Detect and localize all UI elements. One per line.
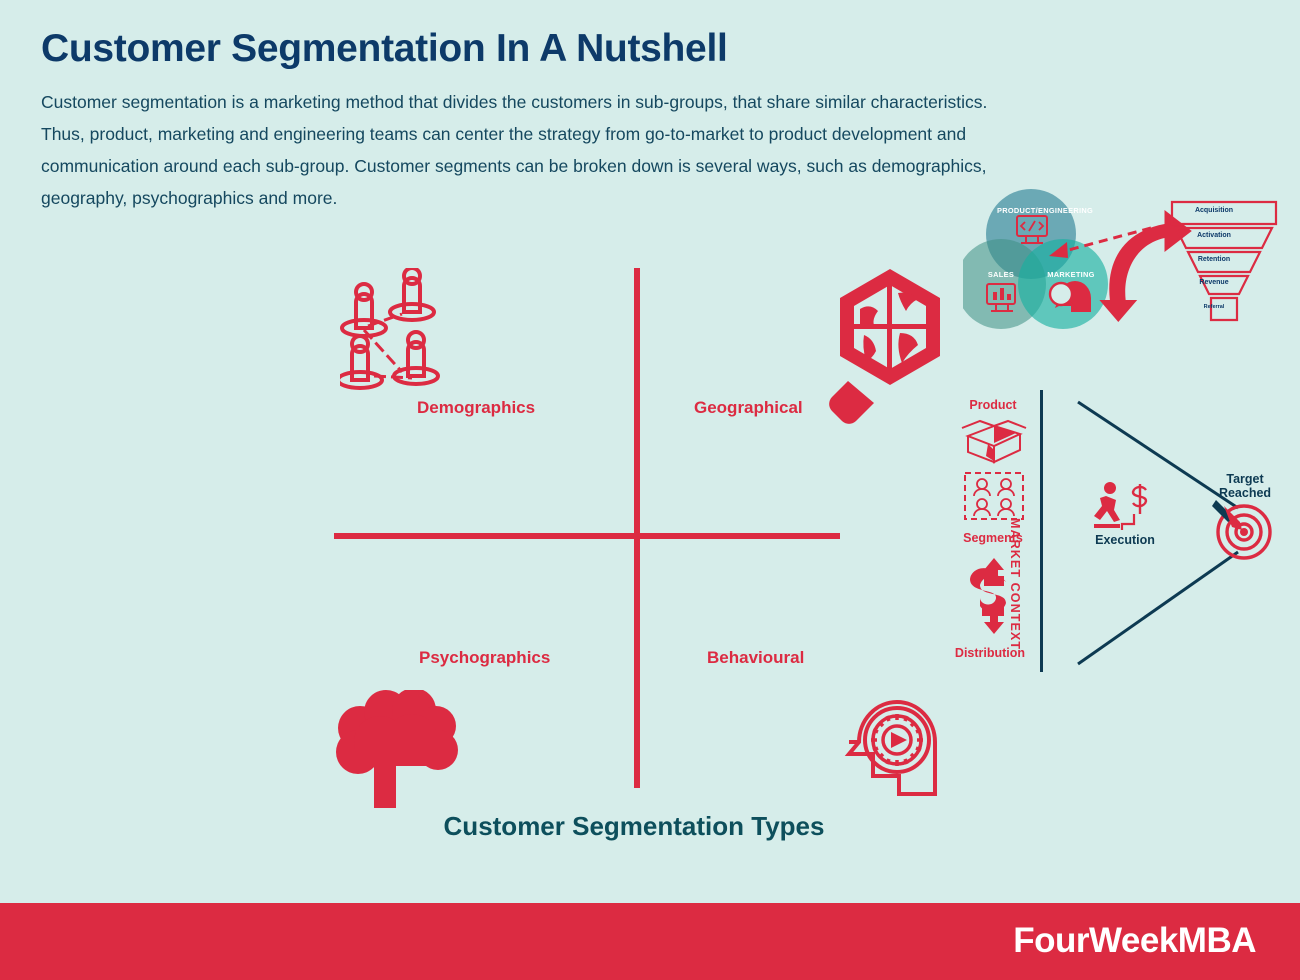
mc-label-execution: Execution [1080,533,1170,547]
quadrant-horizontal-divider [334,533,840,539]
quadrant-vertical-divider [634,268,640,788]
mc-label-segments: Segments [948,531,1038,545]
mc-label-distribution: Distribution [940,646,1040,660]
mc-label-target-reached-line2: Reached [1202,486,1288,500]
dollar-arrows-icon [966,558,1022,634]
running-person-money-icon [1092,480,1154,538]
aarrr-funnel: Acquisition Activation Retention Revenue… [1146,186,1282,326]
funnel-label-referral: Referral [1146,304,1282,310]
quadrant-label-psychographics: Psychographics [419,648,550,668]
page-description: Customer segmentation is a marketing met… [41,86,989,214]
market-context-diagram: MARKET CONTEXT Product Segments [940,388,1280,678]
people-grid-icon [962,470,1026,522]
globe-magnifier-icon [808,263,948,441]
dashed-arrow-icon [1035,222,1155,262]
bullseye-arrow-icon [1208,496,1276,564]
brand-logo: FourWeekMBA [1013,921,1256,961]
mc-label-product: Product [953,398,1033,412]
funnel-label-retention: Retention [1146,256,1282,263]
quadrant-label-geographical: Geographical [694,398,803,418]
brain-icon [330,690,462,808]
infographic-canvas: Customer Segmentation In A Nutshell Cust… [0,0,1300,980]
funnel-label-acquisition: Acquisition [1146,207,1282,214]
venn-label-sales: SALES [975,270,1027,279]
head-gear-play-icon [843,684,943,806]
funnel-label-activation: Activation [1146,232,1282,239]
mc-label-target-reached-line1: Target [1202,472,1288,486]
page-title: Customer Segmentation In A Nutshell [41,27,728,71]
funnel-label-revenue: Revenue [1146,279,1282,286]
quadrant-caption: Customer Segmentation Types [0,811,1268,842]
people-network-icon [340,268,470,393]
quadrant-label-behavioural: Behavioural [707,648,804,668]
market-context-axis-line [1040,390,1043,672]
venn-label-product-engineering: PRODUCT/ENGINEERING [990,206,1100,215]
footer-bar: FourWeekMBA [0,903,1300,980]
quadrant-label-demographics: Demographics [417,398,535,418]
open-box-icon [958,416,1030,466]
